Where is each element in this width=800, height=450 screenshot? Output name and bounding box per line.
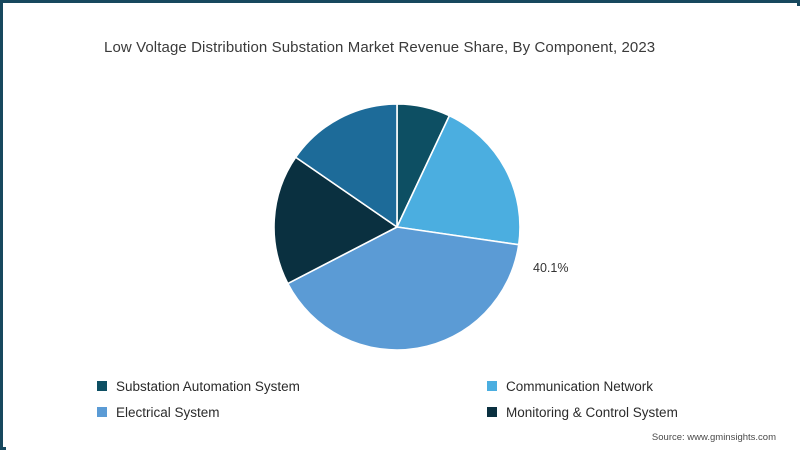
chart-inner-frame: Low Voltage Distribution Substation Mark… [6, 6, 800, 450]
legend-swatch [487, 407, 497, 417]
legend-item-label: Monitoring & Control System [506, 405, 678, 420]
legend-row: Substation Automation System Communicati… [97, 374, 721, 398]
chart-frame: Low Voltage Distribution Substation Mark… [0, 0, 800, 450]
legend-item-substation-automation-system[interactable]: Substation Automation System [97, 374, 487, 398]
chart-legend: Substation Automation System Communicati… [97, 374, 721, 424]
page-title: Low Voltage Distribution Substation Mark… [104, 39, 744, 56]
pie-slice-group [274, 104, 520, 350]
legend-swatch [487, 381, 497, 391]
pie-data-label: 40.1% [533, 261, 568, 275]
legend-swatch [97, 407, 107, 417]
legend-item-label: Communication Network [506, 379, 653, 394]
legend-row: Electrical System Monitoring & Control S… [97, 400, 721, 424]
legend-item-electrical-system[interactable]: Electrical System [97, 400, 487, 424]
legend-item-monitoring-control-system[interactable]: Monitoring & Control System [487, 400, 721, 424]
legend-item-communication-network[interactable]: Communication Network [487, 374, 721, 398]
legend-item-label: Electrical System [116, 405, 220, 420]
pie-chart [272, 102, 522, 352]
pie-chart-svg [272, 102, 522, 352]
legend-item-label: Substation Automation System [116, 379, 300, 394]
source-attribution: Source: www.gminsights.com [652, 432, 776, 443]
legend-swatch [97, 381, 107, 391]
